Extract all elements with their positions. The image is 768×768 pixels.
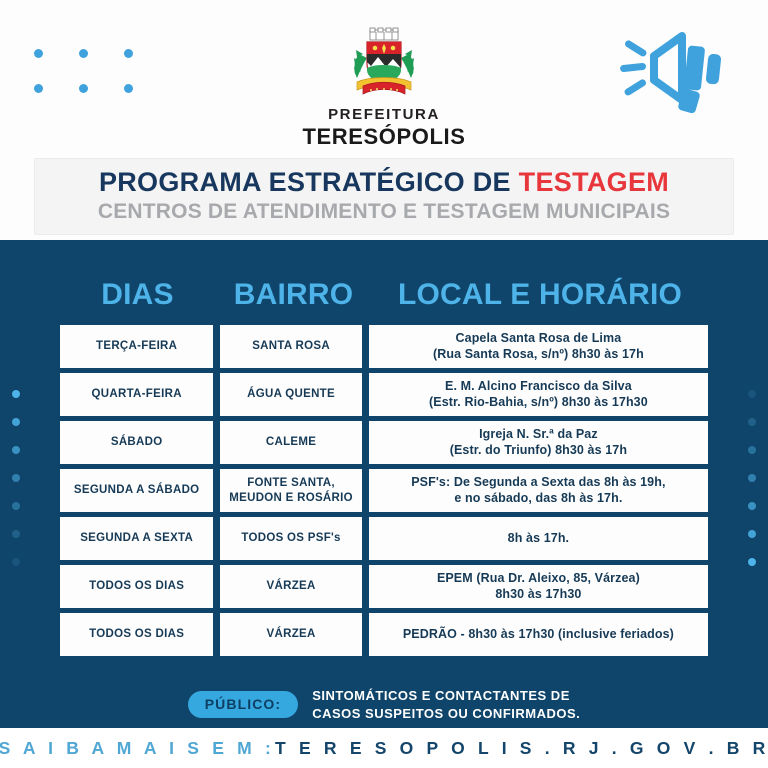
decorative-dot — [12, 418, 20, 426]
cell-local-line1: 8h às 17h. — [508, 531, 569, 546]
table-row: TODOS OS DIAS VÁRZEA PEDRÃO - 8h30 às 17… — [60, 613, 708, 656]
decorative-dot — [12, 446, 20, 454]
table-row: QUARTA-FEIRA ÁGUA QUENTE E. M. Alcino Fr… — [60, 373, 708, 416]
banner-title-highlight: TESTAGEM — [519, 167, 669, 197]
decorative-dot — [748, 418, 756, 426]
column-header-dias: DIAS — [60, 278, 215, 312]
cell-local-horario: PSF's: De Segunda a Sexta das 8h às 19h,… — [369, 469, 708, 512]
cell-bairro: VÁRZEA — [220, 565, 361, 608]
cell-local-horario: Capela Santa Rosa de Lima (Rua Santa Ros… — [369, 325, 708, 368]
cell-local-horario: EPEM (Rua Dr. Aleixo, 85, Várzea) 8h30 à… — [369, 565, 708, 608]
schedule-section: DIAS BAIRRO LOCAL E HORÁRIO TERÇA-FEIRA … — [0, 240, 768, 728]
cell-dias: TODOS OS DIAS — [60, 613, 213, 656]
decorative-dot — [748, 558, 756, 566]
left-dot-column — [12, 390, 20, 566]
table-row: SEGUNDA A SEXTA TODOS OS PSF's 8h às 17h… — [60, 517, 708, 560]
column-header-local-horario: LOCAL E HORÁRIO — [372, 278, 708, 312]
table-row: SÁBADO CALEME Igreja N. Sr.ª da Paz (Est… — [60, 421, 708, 464]
table-row: TODOS OS DIAS VÁRZEA EPEM (Rua Dr. Aleix… — [60, 565, 708, 608]
cell-local-line2: 8h30 às 17h30 — [437, 587, 640, 602]
cell-local-line1: PSF's: De Segunda a Sexta das 8h às 19h, — [411, 475, 665, 490]
banner-title: PROGRAMA ESTRATÉGICO DE TESTAGEM — [35, 167, 733, 198]
cell-local-line1: Capela Santa Rosa de Lima — [433, 331, 644, 346]
cell-local-horario: PEDRÃO - 8h30 às 17h30 (inclusive feriad… — [369, 613, 708, 656]
decorative-dot — [12, 502, 20, 510]
publico-block: PÚBLICO: SINTOMÁTICOS E CONTACTANTES DE … — [0, 687, 768, 723]
cell-bairro-line1: FONTE SANTA, — [229, 476, 353, 490]
cell-dias: TODOS OS DIAS — [60, 565, 213, 608]
publico-text: SINTOMÁTICOS E CONTACTANTES DE CASOS SUS… — [312, 687, 580, 723]
decorative-dot — [12, 530, 20, 538]
decorative-dot — [12, 474, 20, 482]
cell-bairro: ÁGUA QUENTE — [220, 373, 361, 416]
cell-local-line1: E. M. Alcino Francisco da Silva — [429, 379, 648, 394]
banner-subtitle: CENTROS DE ATENDIMENTO E TESTAGEM MUNICI… — [35, 200, 733, 224]
cell-bairro: FONTE SANTA, MEUDON E ROSÁRIO — [220, 469, 361, 512]
footer-bar: S A I B A M A I S E M : T E R E S O P O … — [0, 728, 768, 768]
footer-label: S A I B A M A I S E M : — [0, 738, 275, 759]
decorative-dot — [748, 530, 756, 538]
publico-text-line2: CASOS SUSPEITOS OU CONFIRMADOS. — [312, 705, 580, 723]
cell-local-horario: 8h às 17h. — [369, 517, 708, 560]
cell-dias: SÁBADO — [60, 421, 213, 464]
banner-title-main: PROGRAMA ESTRATÉGICO DE — [99, 167, 519, 197]
decorative-dot — [12, 390, 20, 398]
publico-badge: PÚBLICO: — [188, 691, 298, 718]
table-header-row: DIAS BAIRRO LOCAL E HORÁRIO — [60, 278, 708, 312]
megaphone-icon — [618, 28, 726, 114]
cell-bairro-line2: MEUDON E ROSÁRIO — [229, 491, 353, 505]
footer-url[interactable]: T E R E S O P O L I S . R J . G O V . B … — [275, 738, 768, 759]
table-row: TERÇA-FEIRA SANTA ROSA Capela Santa Rosa… — [60, 325, 708, 368]
table-body: TERÇA-FEIRA SANTA ROSA Capela Santa Rosa… — [60, 325, 708, 661]
cell-local-horario: Igreja N. Sr.ª da Paz (Estr. do Triunfo)… — [369, 421, 708, 464]
cell-local-horario: E. M. Alcino Francisco da Silva (Estr. R… — [369, 373, 708, 416]
cell-dias: QUARTA-FEIRA — [60, 373, 213, 416]
cell-dias: SEGUNDA A SEXTA — [60, 517, 213, 560]
right-dot-column — [748, 390, 756, 566]
decorative-dot — [12, 558, 20, 566]
cell-local-line2: e no sábado, das 8h às 17h. — [411, 491, 665, 506]
decorative-dot — [748, 474, 756, 482]
logo-city-label: TERESÓPOLIS — [0, 124, 768, 150]
cell-local-line2: (Estr. do Triunfo) 8h30 às 17h — [450, 443, 627, 458]
cell-dias: SEGUNDA A SÁBADO — [60, 469, 213, 512]
cell-local-line1: PEDRÃO - 8h30 às 17h30 (inclusive feriad… — [403, 627, 674, 642]
cell-local-line2: (Estr. Rio-Bahia, s/nº) 8h30 às 17h30 — [429, 395, 648, 410]
decorative-dot — [748, 446, 756, 454]
decorative-dot — [748, 390, 756, 398]
cell-dias: TERÇA-FEIRA — [60, 325, 213, 368]
cell-local-line1: Igreja N. Sr.ª da Paz — [450, 427, 627, 442]
table-row: SEGUNDA A SÁBADO FONTE SANTA, MEUDON E R… — [60, 469, 708, 512]
cell-bairro: SANTA ROSA — [220, 325, 361, 368]
cell-bairro: VÁRZEA — [220, 613, 361, 656]
cell-local-line2: (Rua Santa Rosa, s/nº) 8h30 às 17h — [433, 347, 644, 362]
poster-canvas: PREFEITURA TERESÓPOLIS PROGRAMA ESTRATÉG… — [0, 0, 768, 768]
decorative-dot — [748, 502, 756, 510]
teresopolis-coat-of-arms-icon — [345, 24, 423, 102]
cell-bairro: TODOS OS PSF's — [220, 517, 361, 560]
publico-text-line1: SINTOMÁTICOS E CONTACTANTES DE — [312, 687, 580, 705]
cell-bairro: CALEME — [220, 421, 361, 464]
column-header-bairro: BAIRRO — [222, 278, 365, 312]
cell-local-line1: EPEM (Rua Dr. Aleixo, 85, Várzea) — [437, 571, 640, 586]
title-banner: PROGRAMA ESTRATÉGICO DE TESTAGEM CENTROS… — [34, 158, 734, 235]
